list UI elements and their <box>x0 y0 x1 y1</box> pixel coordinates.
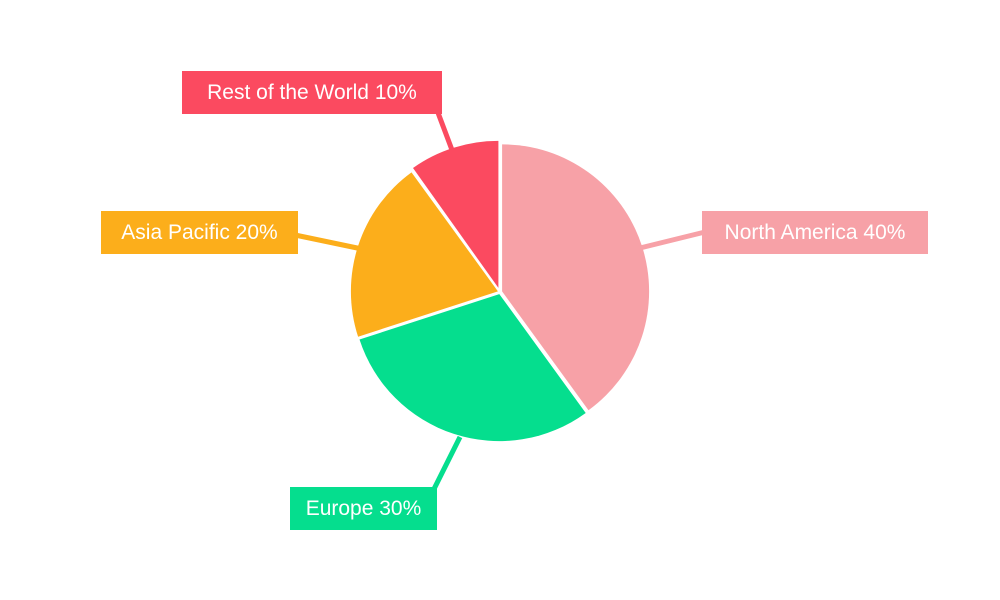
pie-chart-figure: North America 40% Europe 30% Asia Pacifi… <box>0 0 1000 600</box>
pie-label-asia-pacific: Asia Pacific 20% <box>101 211 298 254</box>
pie-slices <box>351 141 649 441</box>
pie-chart-canvas <box>0 0 1000 600</box>
pie-label-europe: Europe 30% <box>290 487 437 530</box>
pie-label-north-america: North America 40% <box>702 211 928 254</box>
pie-label-rest-of-world: Rest of the World 10% <box>182 71 442 114</box>
leader-line-asia-pacific <box>295 235 362 249</box>
leader-line-north-america <box>640 232 705 248</box>
leader-line-europe <box>434 437 460 489</box>
